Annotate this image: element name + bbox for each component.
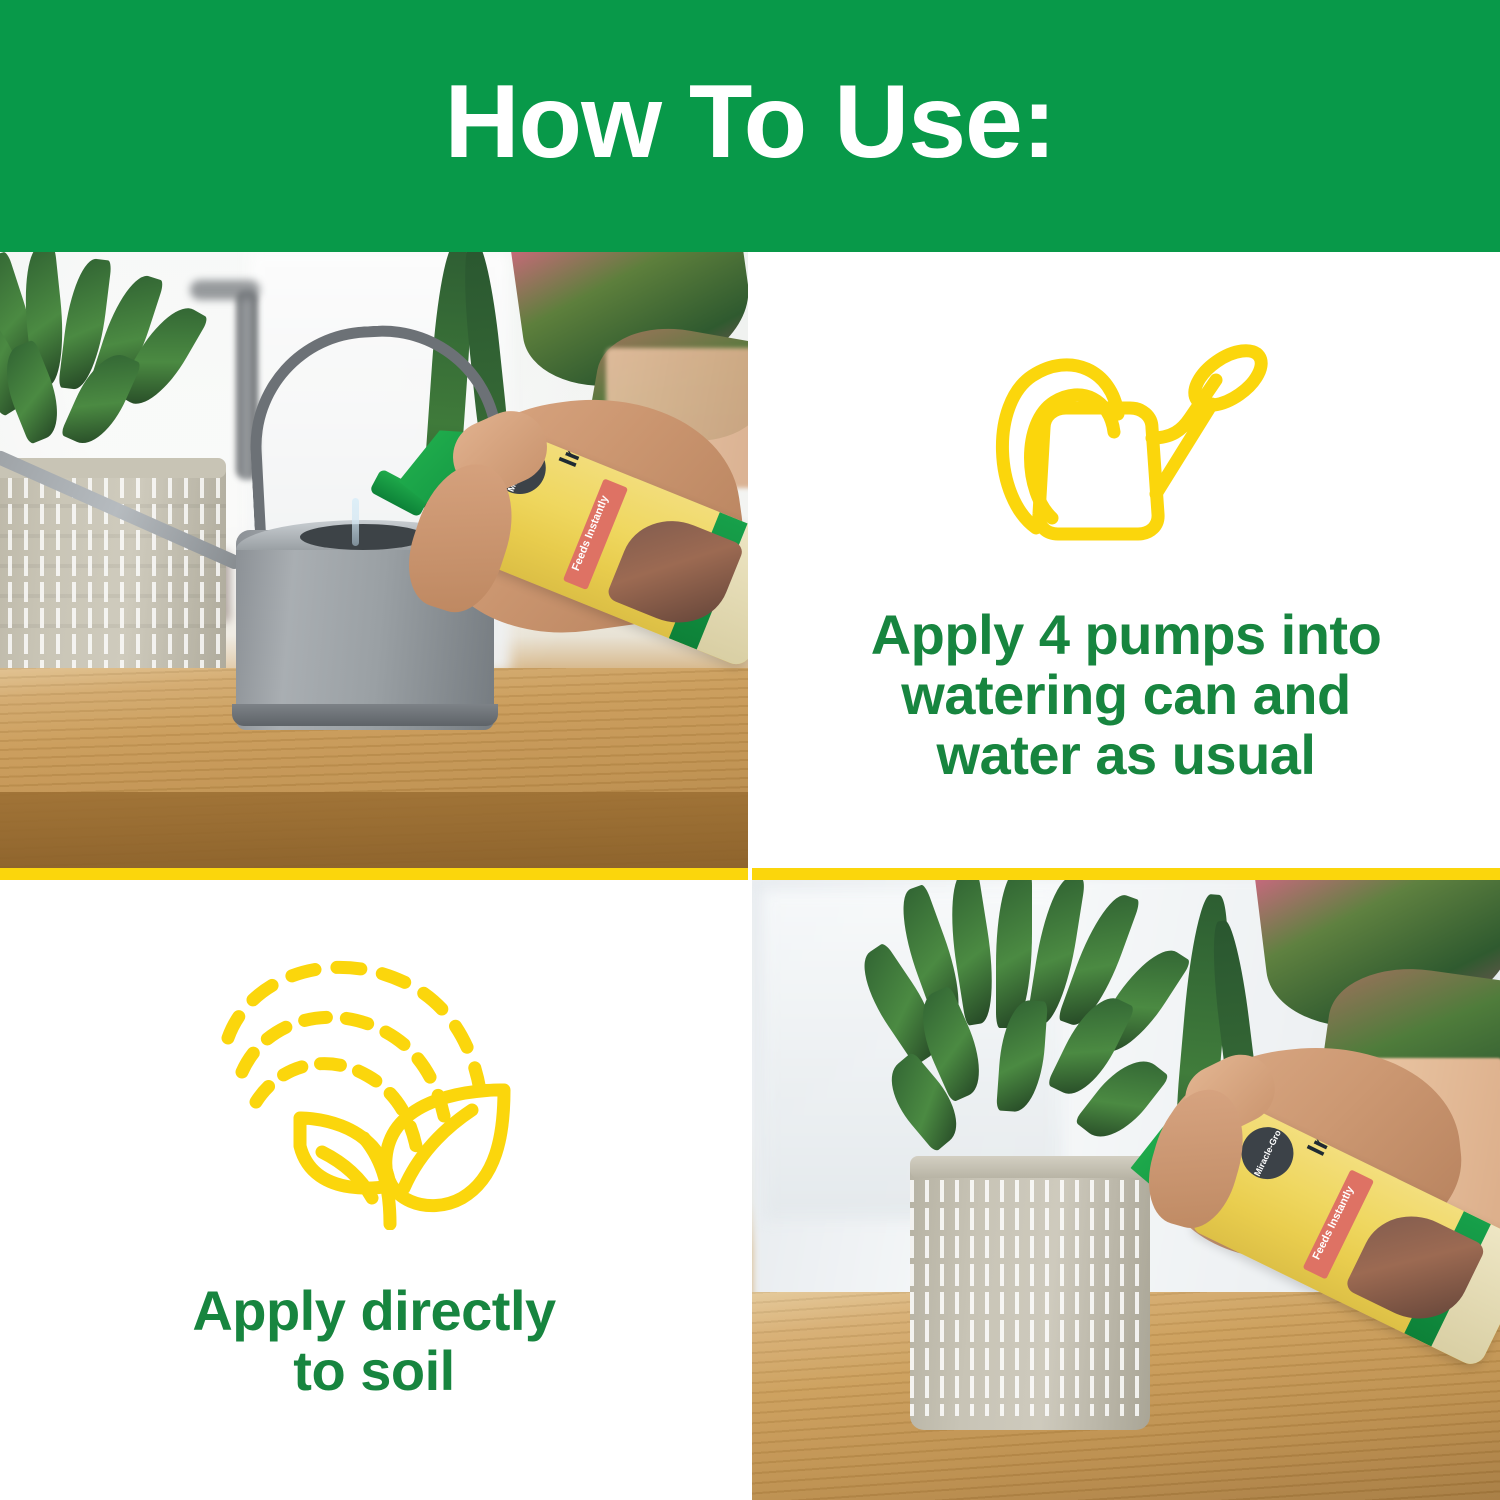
step-2-instruction-cell: Apply directly to soil [0, 880, 748, 1500]
ceramic-pot-pattern [910, 1180, 1150, 1416]
watering-can-icon [976, 318, 1276, 553]
vertical-divider [748, 252, 752, 1500]
steps-grid: Miracle-Gro Indoor Feeds Instantly [0, 252, 1500, 1500]
zz-plant-left [0, 252, 260, 476]
sprout-watering-icon [204, 940, 544, 1235]
liquid-stream [352, 498, 359, 546]
table-edge [0, 792, 748, 872]
watering-can-base [232, 704, 498, 726]
step-1-instruction-cell: Apply 4 pumps into watering can and wate… [752, 252, 1500, 872]
step-2-photo-cell: Miracle-Gro Indoor Feeds Instantly [752, 880, 1500, 1500]
step-2-caption: Apply directly to soil [64, 1281, 684, 1401]
miracle-gro-logo: Miracle-Gro [1233, 1118, 1303, 1188]
header-banner: How To Use: [0, 0, 1500, 252]
step-1-photo-cell: Miracle-Gro Indoor Feeds Instantly [0, 252, 748, 872]
claim-label: Feeds Instantly [1311, 1184, 1357, 1261]
page-title: How To Use: [444, 70, 1055, 174]
claim-label: Feeds Instantly [570, 494, 611, 573]
how-to-use-infographic: How To Use: [0, 0, 1500, 1500]
step-1-caption: Apply 4 pumps into watering can and wate… [796, 605, 1456, 785]
caption-line-1: Apply directly [64, 1281, 684, 1341]
zz-plant [872, 880, 1212, 1170]
caption-line-3: water as usual [796, 725, 1456, 785]
brand-label: Miracle-Gro [1252, 1128, 1283, 1177]
caption-line-2: watering can and [796, 665, 1456, 725]
spray-into-soil-photo: Miracle-Gro Indoor Feeds Instantly [752, 880, 1500, 1500]
caption-line-2: to soil [64, 1341, 684, 1401]
ceramic-pot-rim [910, 1156, 1150, 1178]
watering-can-pour-photo: Miracle-Gro Indoor Feeds Instantly [0, 252, 748, 872]
caption-line-1: Apply 4 pumps into [796, 605, 1456, 665]
watering-can-opening [300, 524, 426, 550]
